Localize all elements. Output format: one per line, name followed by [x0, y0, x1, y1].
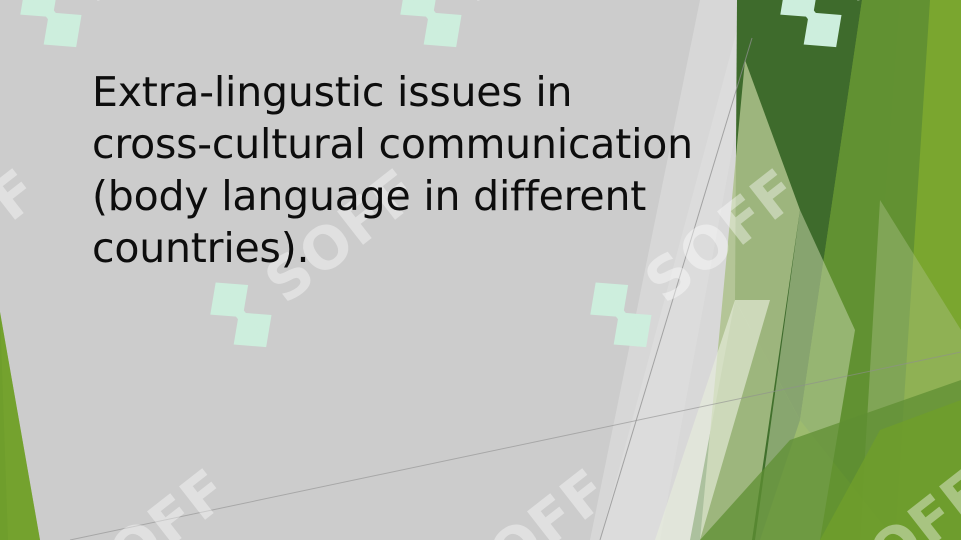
watermark-text: SOFF [822, 0, 961, 16]
watermark-logo-icon [190, 262, 292, 368]
shape-dark-blade-lower [690, 300, 800, 540]
watermark-logo-icon [380, 0, 482, 68]
watermark-text: SOFF [62, 0, 241, 16]
watermark-item: SOFF [380, 448, 627, 540]
watermark-item: SOFF [950, 148, 961, 367]
watermark-text: SOFF [62, 455, 241, 540]
watermark-text: SOFF [442, 0, 621, 16]
watermark-item: SOFF [380, 0, 627, 68]
shape-bottom-right-accent [700, 380, 961, 540]
shape-bottom-left-wedge-light [0, 312, 40, 540]
page-title: Extra-lingustic issues in cross-cultural… [92, 66, 792, 274]
watermark-item: SOFF [760, 0, 961, 68]
shape-sage-facet-right [860, 200, 961, 540]
title-block: Extra-lingustic issues in cross-cultural… [92, 66, 792, 274]
watermark-logo-icon [760, 0, 862, 68]
shape-mid-green-panel [800, 0, 930, 540]
watermark-item: SOFF [0, 148, 57, 367]
watermark-item: SOFF [0, 0, 247, 68]
watermark-text: SOFF [822, 455, 961, 540]
watermark-logo-icon [0, 0, 102, 68]
hairline-diagonal [70, 352, 961, 540]
watermark-item: SOFF [0, 448, 247, 540]
shape-bottom-left-wedge [0, 312, 40, 540]
watermark-text: SOFF [0, 155, 52, 316]
shape-bottom-right-bright [820, 400, 961, 540]
shape-right-base-olive [860, 0, 961, 540]
watermark-logo-icon [570, 262, 672, 368]
shape-pale-sliver [655, 300, 770, 540]
watermark-text: SOFF [442, 455, 621, 540]
watermark-item: SOFF [760, 448, 961, 540]
watermark-logo-icon [950, 262, 961, 368]
slide-canvas: SOFF SOFF SOFF SOFF SOFF SOFF [0, 0, 961, 540]
